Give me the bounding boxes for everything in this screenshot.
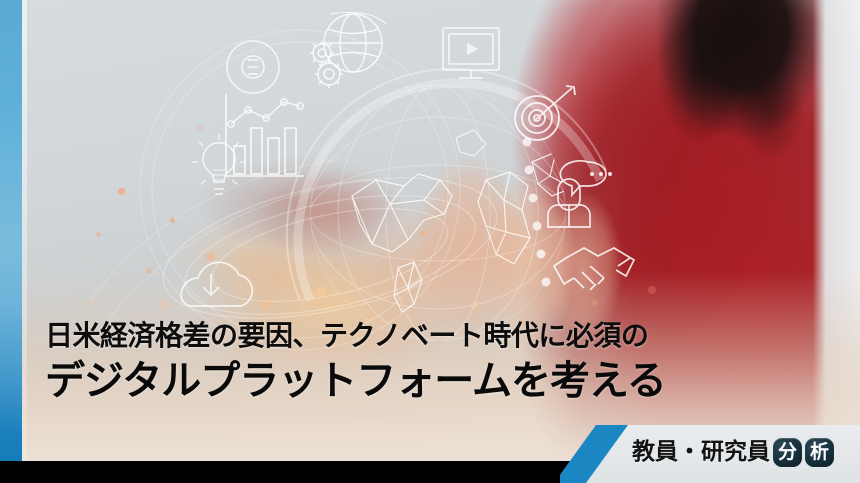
badge-chip-1: 分 <box>773 438 802 467</box>
left-accent-stripe-highlight <box>22 0 27 483</box>
badge-chip-2: 析 <box>805 438 834 467</box>
headline-block: 日米経済格差の要因、テクノベート時代に必須の デジタルプラットフォームを考える <box>45 318 666 406</box>
badge-content: 教員・研究員 分 析 <box>632 437 834 467</box>
article-hero-banner: 日米経済格差の要因、テクノベート時代に必須の デジタルプラットフォームを考える … <box>0 0 860 483</box>
headline-line-2: デジタルプラットフォームを考える <box>45 356 666 406</box>
left-accent-stripe <box>0 0 22 483</box>
category-badge-panel: 教員・研究員 分 析 <box>560 425 860 483</box>
tech-wireframe-overlay <box>0 0 860 483</box>
headline-line-1: 日米経済格差の要因、テクノベート時代に必須の <box>45 318 666 354</box>
badge-label: 教員・研究員 <box>632 437 770 467</box>
